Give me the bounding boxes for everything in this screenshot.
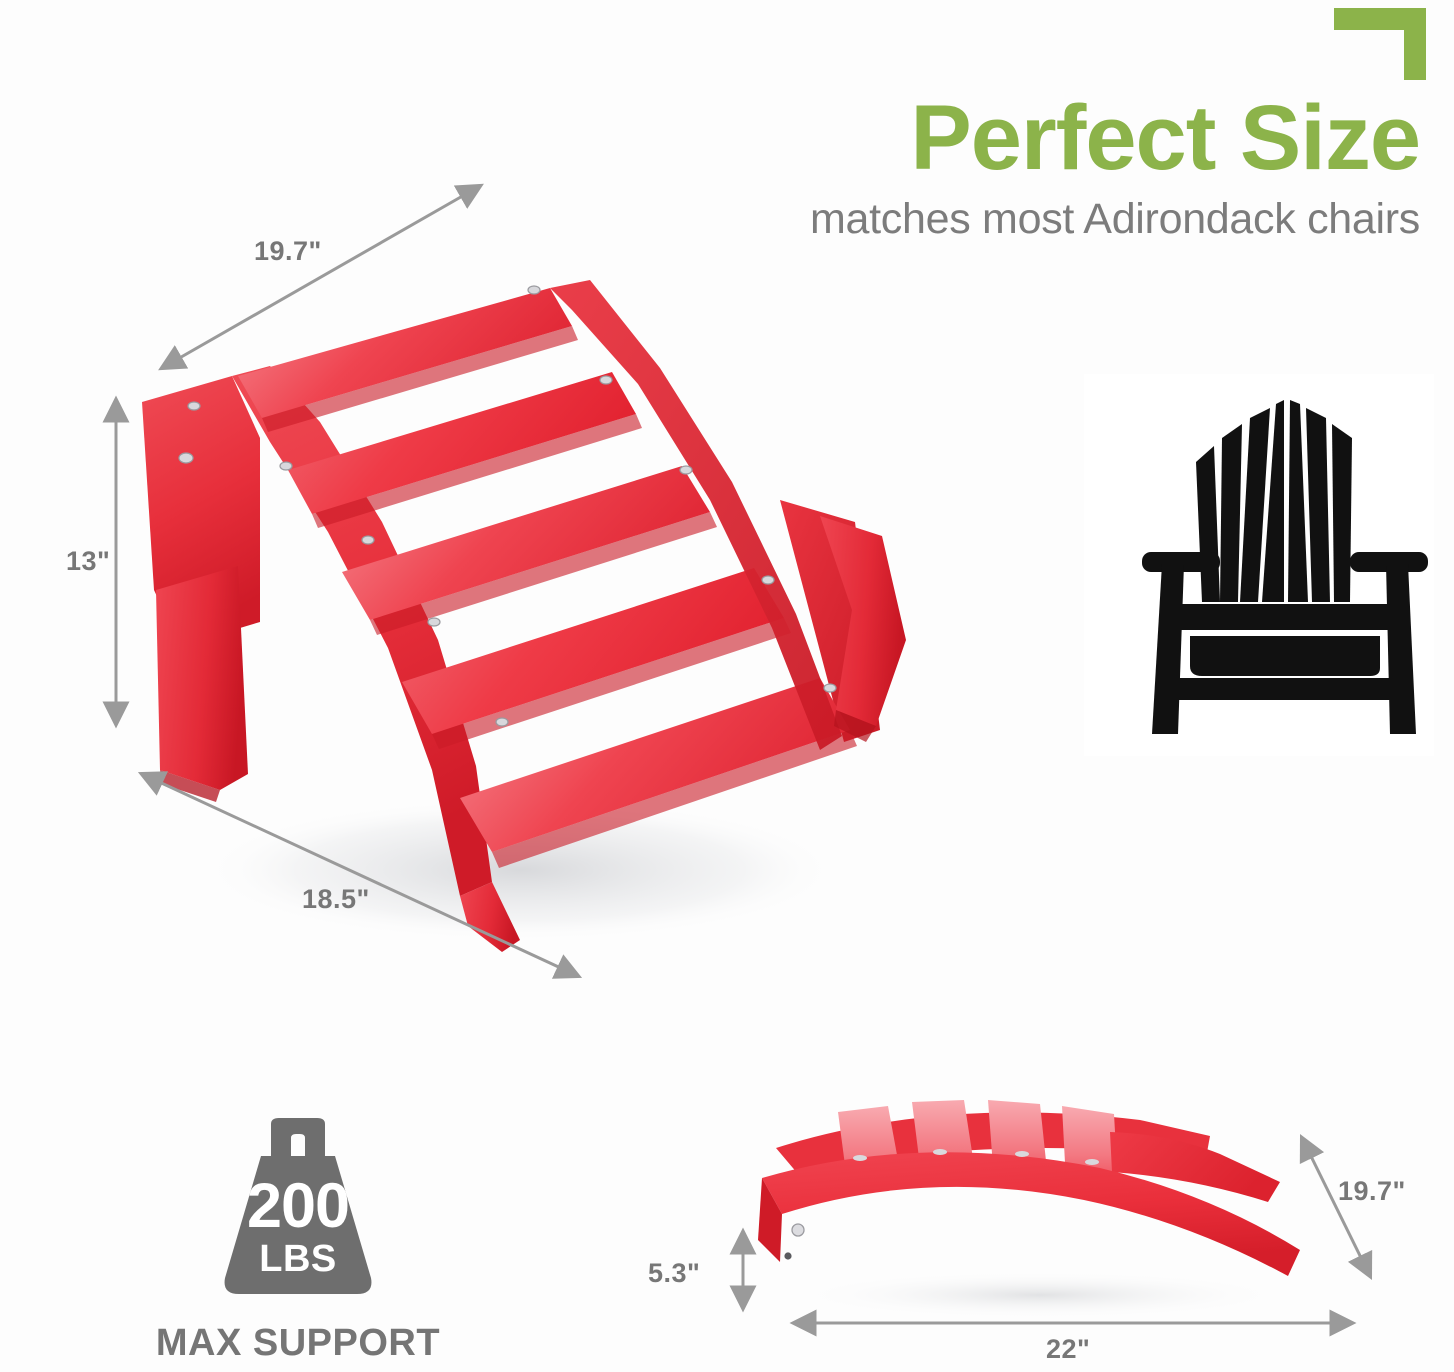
dimension-arrow-folded-depth [1288, 1126, 1398, 1290]
dimension-arrow-width [140, 172, 500, 382]
weight-value: 200 [193, 1170, 403, 1242]
dimension-label-height: 13" [66, 546, 110, 577]
dimension-label-folded-thickness: 5.3" [648, 1258, 700, 1289]
dimension-arrow-depth [128, 762, 594, 990]
adirondack-chair-silhouette-icon [1084, 374, 1434, 756]
max-support-caption: MAX SUPPORT [148, 1322, 448, 1365]
dimension-label-folded-width: 22" [1046, 1334, 1090, 1365]
max-support-badge: 200 LBS MAX SUPPORT [148, 1118, 448, 1365]
corner-bracket-vertical-bar [1404, 8, 1426, 80]
dimension-arrow-folded-width [782, 1310, 1366, 1336]
folded-product-image [740, 1090, 1340, 1320]
corner-bracket-icon [1334, 8, 1426, 80]
dimension-arrow-folded-thickness [726, 1222, 760, 1318]
dimension-label-width: 19.7" [254, 236, 322, 267]
dimension-label-folded-depth: 19.7" [1338, 1176, 1406, 1207]
product-infographic: Perfect Size matches most Adirondack cha… [0, 0, 1454, 1372]
weight-kettlebell-icon: 200 LBS [193, 1118, 403, 1308]
dimension-label-depth: 18.5" [302, 884, 370, 915]
weight-unit: LBS [193, 1238, 403, 1281]
adirondack-chair-silhouette-panel [1084, 374, 1434, 756]
